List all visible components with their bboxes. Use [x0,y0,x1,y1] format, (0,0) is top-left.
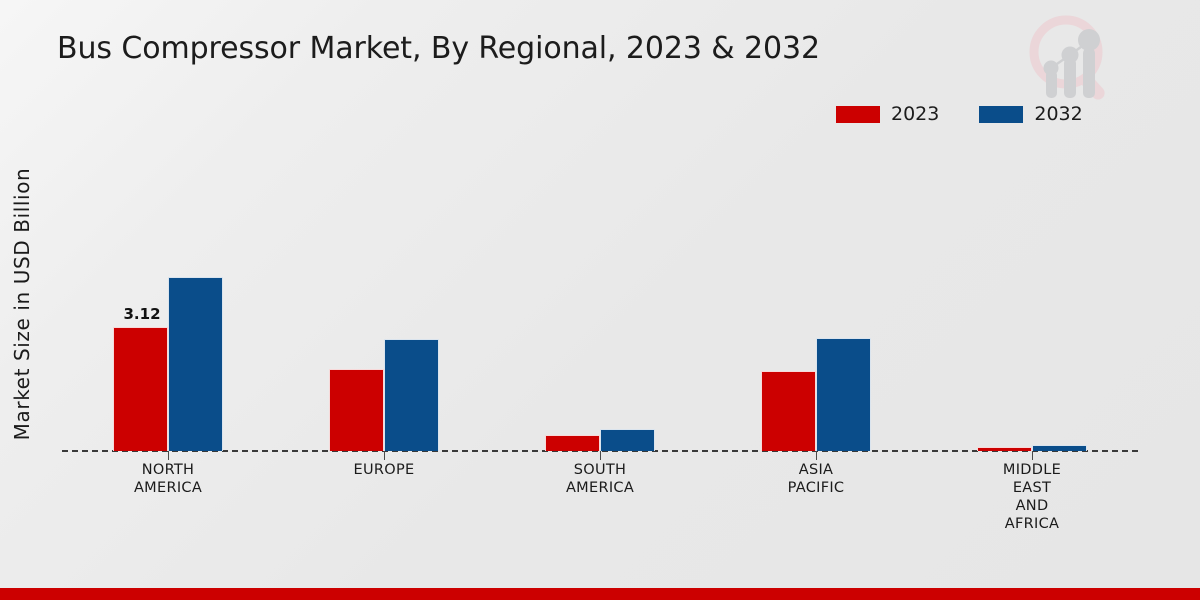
bar-pair [113,277,223,451]
bar-2023-north-america[interactable] [113,327,168,451]
bar-2032-asia-pacific[interactable] [816,338,871,451]
bar-pair [329,339,439,451]
bar-2032-middle-east-and-africa[interactable] [1032,445,1087,451]
x-axis-tick [384,451,385,460]
plot-area: NORTHAMERICAEUROPESOUTHAMERICAASIAPACIFI… [0,0,1200,600]
x-axis-label-europe: EUROPE [299,461,469,479]
x-axis-tick [1032,451,1033,460]
x-axis-label-line: ASIA [731,461,901,479]
x-axis-tick [600,451,601,460]
x-axis-label-line: SOUTH [515,461,685,479]
bar-pair [761,338,871,451]
x-axis-label-south-america: SOUTHAMERICA [515,461,685,497]
x-axis-label-line: EAST [947,479,1117,497]
x-axis-label-line: AMERICA [515,479,685,497]
bar-2032-europe[interactable] [384,339,439,451]
bar-2032-north-america[interactable] [168,277,223,451]
x-axis-tick [168,451,169,460]
bar-2023-europe[interactable] [329,369,384,451]
x-axis-label-line: AFRICA [947,515,1117,533]
bar-2023-middle-east-and-africa[interactable] [977,447,1032,451]
bar-pair [545,429,655,451]
bar-2023-south-america[interactable] [545,435,600,451]
x-axis-label-line: PACIFIC [731,479,901,497]
x-axis-label-asia-pacific: ASIAPACIFIC [731,461,901,497]
x-axis-label-line: AMERICA [83,479,253,497]
x-axis-tick [816,451,817,460]
bar-2032-south-america[interactable] [600,429,655,451]
footer-accent-band [0,588,1200,600]
x-axis-label-middle-east-and-africa: MIDDLEEASTANDAFRICA [947,461,1117,533]
chart-canvas: Bus Compressor Market, By Regional, 2023… [0,0,1200,600]
x-axis-label-line: EUROPE [299,461,469,479]
x-axis-label-line: AND [947,497,1117,515]
bar-value-label: 3.12 [124,305,161,323]
x-axis-label-north-america: NORTHAMERICA [83,461,253,497]
x-axis-label-line: NORTH [83,461,253,479]
bar-2023-asia-pacific[interactable] [761,371,816,451]
x-axis-label-line: MIDDLE [947,461,1117,479]
